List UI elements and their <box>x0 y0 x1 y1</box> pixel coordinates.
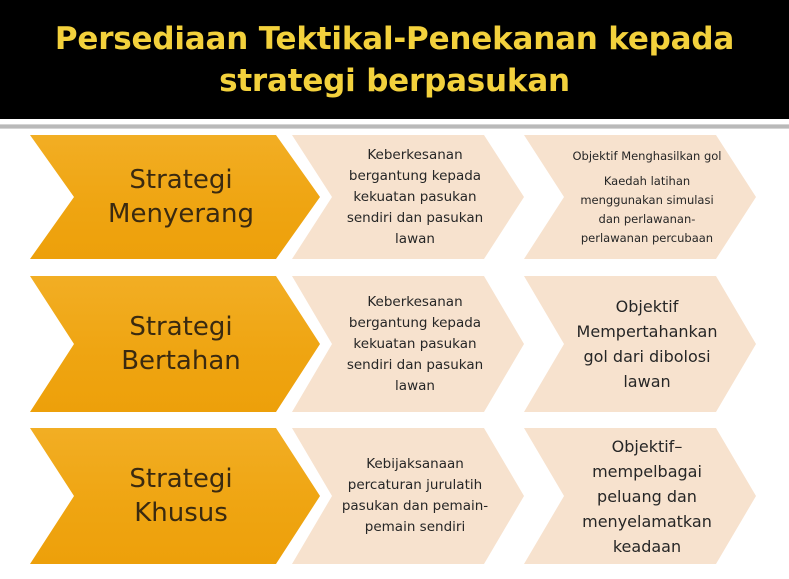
strategy-chevron-khusus[interactable]: Strategi Khusus <box>30 428 320 564</box>
objective-line: dan perlawanan- <box>573 210 722 229</box>
description-line: sendiri dan pasukan <box>347 355 483 376</box>
strategy-chevron-label: Strategi Khusus <box>83 462 266 530</box>
description-line: bergantung kepada <box>347 313 483 334</box>
objective-line: menggunakan simulasi <box>573 191 722 210</box>
description-line: kekuatan pasukan <box>347 334 483 355</box>
description-line: pasukan dan pemain- <box>342 496 488 517</box>
objective-line: Mempertahankan <box>577 319 718 344</box>
objective-line: gol dari dibolosi <box>577 344 718 369</box>
objective-line: peluang dan <box>582 484 712 509</box>
description-line: Keberkesanan <box>347 292 483 313</box>
objective-heading: Objektif Menghasilkan gol <box>573 147 722 166</box>
page-title-line-2: strategi berpasukan <box>219 60 570 102</box>
description-chevron[interactable]: Keberkesanan bergantung kepada kekuatan … <box>292 276 524 412</box>
objective-line: keadaan <box>582 534 712 559</box>
description-line: pemain sendiri <box>342 517 488 538</box>
objective-chevron[interactable]: Objektif Menghasilkan gol Kaedah latihan… <box>524 135 756 259</box>
objective-text: Objektif Menghasilkan gol Kaedah latihan… <box>529 147 752 248</box>
process-row: Strategi Bertahan Keberkesanan bergantun… <box>0 276 789 412</box>
strategy-chevron-bertahan[interactable]: Strategi Bertahan <box>30 276 320 412</box>
objective-line: Kaedah latihan <box>573 172 722 191</box>
header-divider <box>0 124 789 129</box>
objective-line: Objektif <box>577 294 718 319</box>
objective-text: Objektif– mempelbagai peluang dan menyel… <box>538 434 742 559</box>
objective-chevron[interactable]: Objektif– mempelbagai peluang dan menyel… <box>524 428 756 564</box>
process-row: Strategi Khusus Kebijaksanaan percaturan… <box>0 428 789 564</box>
description-text: Keberkesanan bergantung kepada kekuatan … <box>303 292 513 397</box>
description-line: percaturan jurulatih <box>342 475 488 496</box>
strategy-chevron-label: Strategi Bertahan <box>75 310 275 378</box>
description-line: sendiri dan pasukan <box>347 208 483 229</box>
strategy-label-line: Menyerang <box>108 197 254 231</box>
strategy-label-line: Strategi <box>121 310 241 344</box>
description-line: bergantung kepada <box>347 166 483 187</box>
objective-line: menyelamatkan <box>582 509 712 534</box>
description-line: Kebijaksanaan <box>342 454 488 475</box>
description-text: Keberkesanan bergantung kepada kekuatan … <box>303 145 513 250</box>
description-line: lawan <box>347 376 483 397</box>
process-diagram: Strategi Menyerang Keberkesanan bergantu… <box>0 130 789 579</box>
description-line: Keberkesanan <box>347 145 483 166</box>
description-text: Kebijaksanaan percaturan jurulatih pasuk… <box>298 454 518 538</box>
page-title-line-1: Persediaan Tektikal-Penekanan kepada <box>55 18 734 60</box>
strategy-label-line: Bertahan <box>121 344 241 378</box>
process-row: Strategi Menyerang Keberkesanan bergantu… <box>0 135 789 259</box>
objective-line: perlawanan percubaan <box>573 229 722 248</box>
strategy-label-line: Strategi <box>129 462 232 496</box>
strategy-chevron-label: Strategi Menyerang <box>62 163 288 231</box>
objective-line: Objektif– <box>582 434 712 459</box>
objective-text: Objektif Mempertahankan gol dari dibolos… <box>533 294 748 394</box>
description-chevron[interactable]: Keberkesanan bergantung kepada kekuatan … <box>292 135 524 259</box>
objective-line: mempelbagai <box>582 459 712 484</box>
strategy-label-line: Strategi <box>108 163 254 197</box>
description-line: lawan <box>347 229 483 250</box>
strategy-chevron-menyerang[interactable]: Strategi Menyerang <box>30 135 320 259</box>
strategy-label-line: Khusus <box>129 496 232 530</box>
title-banner: Persediaan Tektikal-Penekanan kepada str… <box>0 0 789 119</box>
objective-chevron[interactable]: Objektif Mempertahankan gol dari dibolos… <box>524 276 756 412</box>
description-chevron[interactable]: Kebijaksanaan percaturan jurulatih pasuk… <box>292 428 524 564</box>
objective-line: lawan <box>577 369 718 394</box>
description-line: kekuatan pasukan <box>347 187 483 208</box>
